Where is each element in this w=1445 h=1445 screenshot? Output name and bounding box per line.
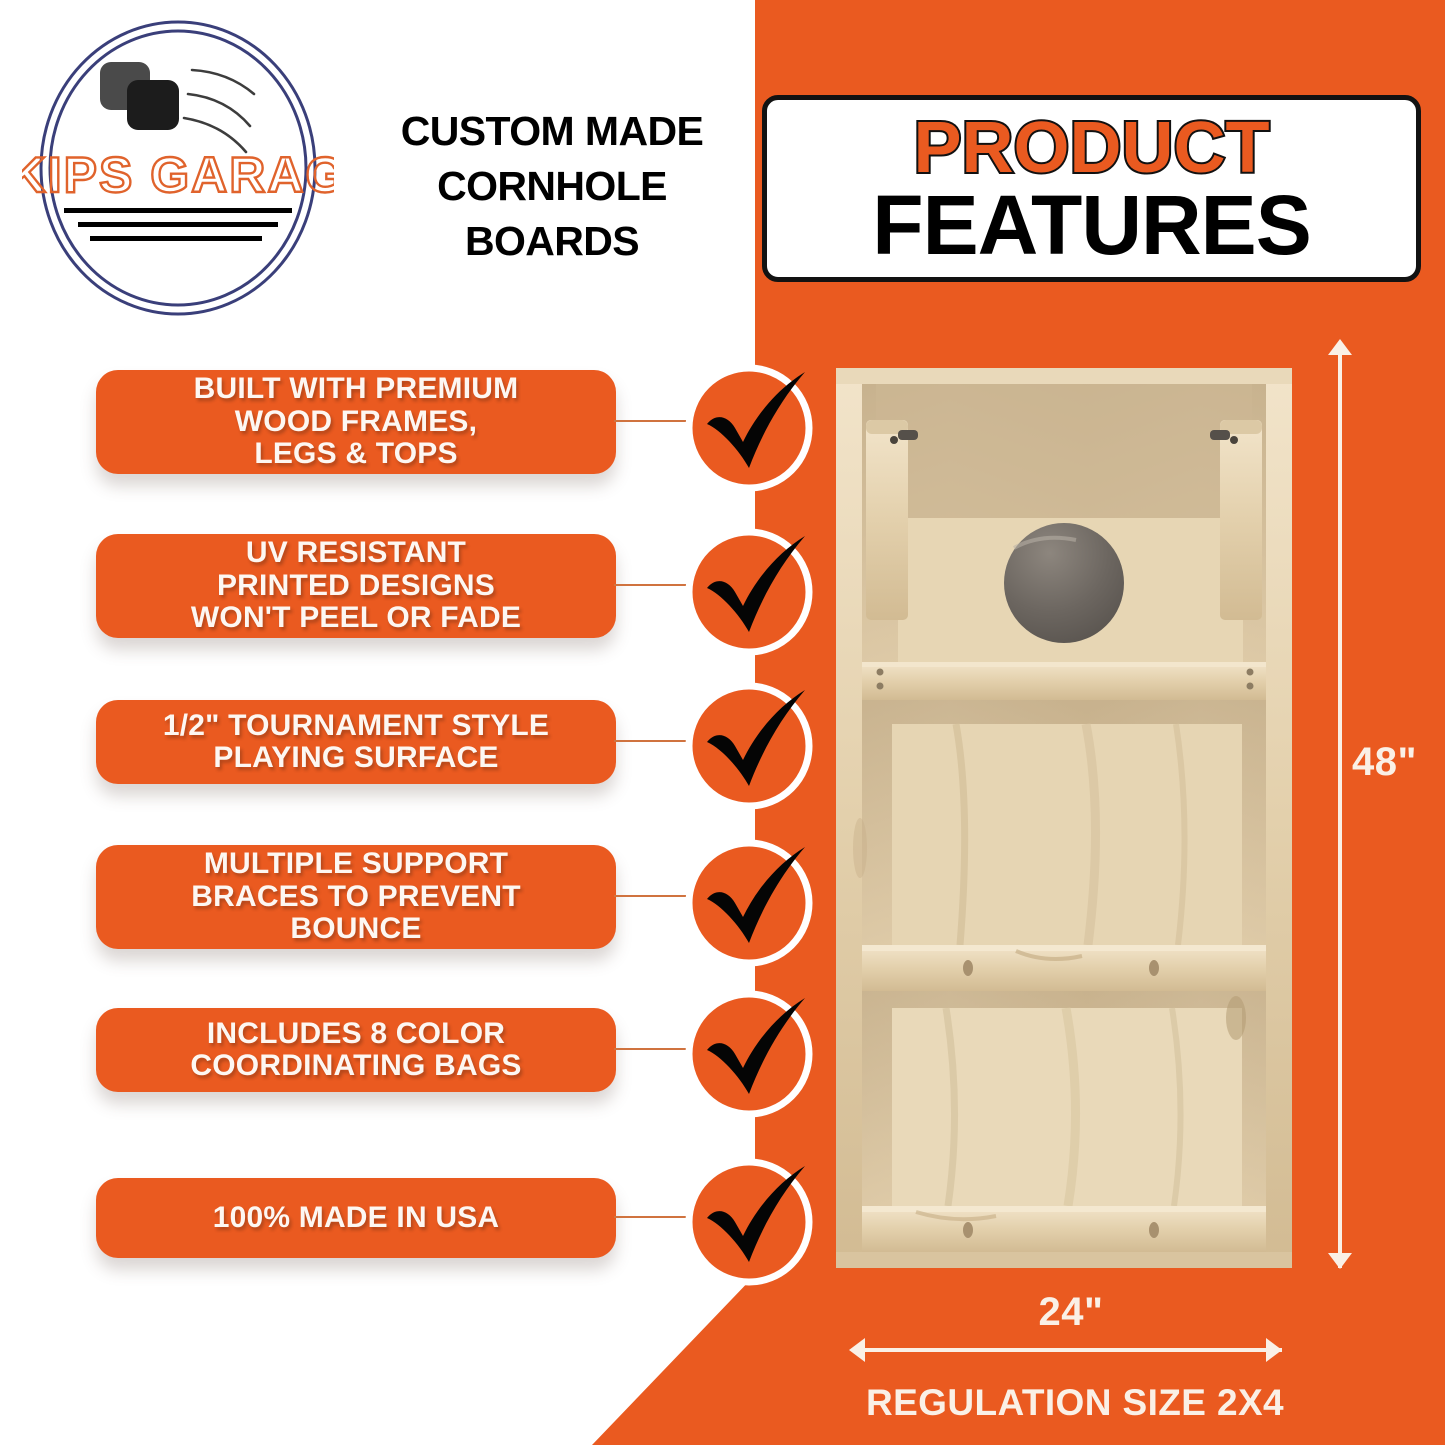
title-line-3: BOARDS [352, 214, 752, 269]
regulation-size-caption: REGULATION SIZE 2X4 [840, 1382, 1310, 1424]
height-arrow-bottom [1328, 1253, 1352, 1269]
title-line-1: CUSTOM MADE [352, 104, 752, 159]
infographic-canvas: SKIPS GARAGE CUSTOM MADE CORNHOLE BOARDS… [0, 0, 1445, 1445]
check-icon-2 [683, 522, 815, 654]
feature-pill-4-text: MULTIPLE SUPPORT BRACES TO PREVENT BOUNC… [191, 848, 521, 945]
page-title: CUSTOM MADE CORNHOLE BOARDS [352, 104, 752, 269]
feature-row-1: BUILT WITH PREMIUM WOOD FRAMES, LEGS & T… [0, 370, 830, 520]
connector-line-2 [614, 584, 688, 586]
connector-line-5 [614, 1048, 688, 1050]
width-dimension-label: 24" [860, 1290, 1282, 1335]
feature-pill-2-text: UV RESISTANT PRINTED DESIGNS WON'T PEEL … [191, 537, 521, 634]
banner-line-product: PRODUCT [914, 113, 1270, 184]
feature-pill-5: INCLUDES 8 COLOR COORDINATING BAGS [96, 1008, 616, 1092]
feature-pill-3: 1/2" TOURNAMENT STYLE PLAYING SURFACE [96, 700, 616, 784]
width-dimension-line [860, 1348, 1282, 1352]
banner-line-features: FEATURES [872, 185, 1310, 266]
feature-row-2: UV RESISTANT PRINTED DESIGNS WON'T PEEL … [0, 534, 830, 684]
logo-wordmark: SKIPS GARAGE [22, 147, 334, 203]
feature-pill-3-text: 1/2" TOURNAMENT STYLE PLAYING SURFACE [163, 710, 549, 775]
cornhole-board-photo [836, 368, 1292, 1268]
connector-line-4 [614, 895, 688, 897]
feature-pill-1-text: BUILT WITH PREMIUM WOOD FRAMES, LEGS & T… [194, 373, 519, 470]
feature-pill-1: BUILT WITH PREMIUM WOOD FRAMES, LEGS & T… [96, 370, 616, 474]
check-icon-6 [683, 1152, 815, 1284]
connector-line-6 [614, 1216, 688, 1218]
feature-row-6: 100% MADE IN USA [0, 1178, 830, 1328]
check-icon-4 [683, 833, 815, 965]
height-dimension-line [1338, 350, 1342, 1268]
check-icon-1 [683, 358, 815, 490]
connector-line-1 [614, 420, 688, 422]
feature-row-4: MULTIPLE SUPPORT BRACES TO PREVENT BOUNC… [0, 845, 830, 995]
feature-row-5: INCLUDES 8 COLOR COORDINATING BAGS [0, 1008, 830, 1158]
feature-pill-4: MULTIPLE SUPPORT BRACES TO PREVENT BOUNC… [96, 845, 616, 949]
connector-line-3 [614, 740, 688, 742]
feature-pill-2: UV RESISTANT PRINTED DESIGNS WON'T PEEL … [96, 534, 616, 638]
product-features-banner: PRODUCT FEATURES [762, 95, 1421, 282]
check-icon-5 [683, 984, 815, 1116]
feature-pill-5-text: INCLUDES 8 COLOR COORDINATING BAGS [190, 1018, 521, 1083]
title-line-2: CORNHOLE [352, 159, 752, 214]
feature-row-3: 1/2" TOURNAMENT STYLE PLAYING SURFACE [0, 700, 830, 850]
skips-garage-logo: SKIPS GARAGE [22, 12, 334, 324]
height-dimension-label: 48" [1352, 740, 1417, 785]
check-icon-3 [683, 676, 815, 808]
feature-pill-6: 100% MADE IN USA [96, 1178, 616, 1258]
feature-pill-6-text: 100% MADE IN USA [213, 1202, 500, 1234]
width-arrow-right [1266, 1338, 1282, 1362]
